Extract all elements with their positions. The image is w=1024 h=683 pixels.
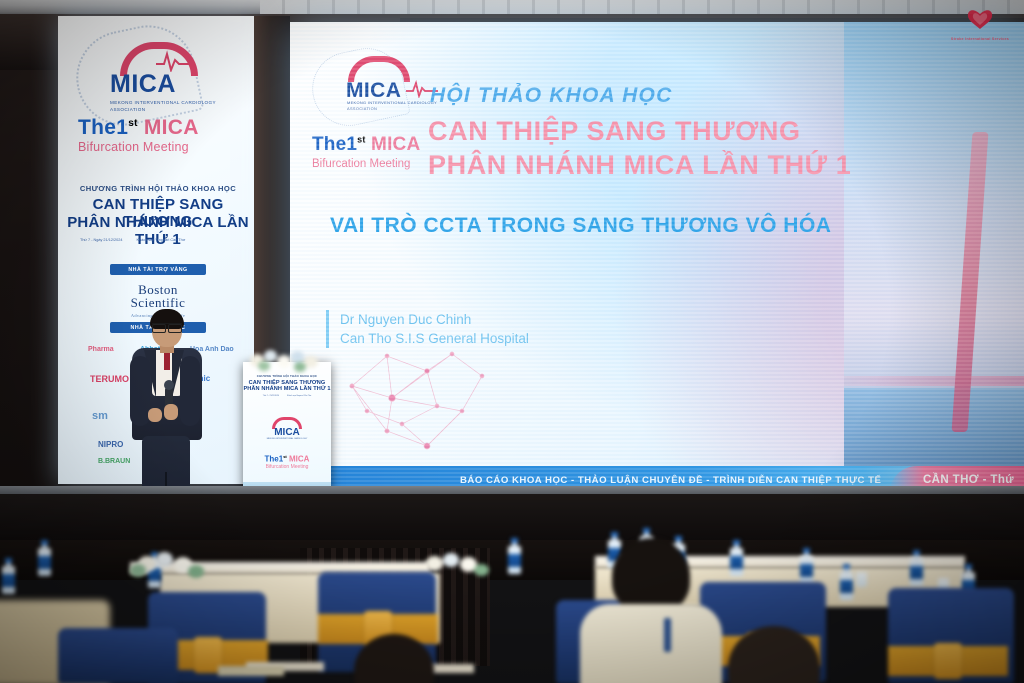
left-panel-bifurcation: Bifurcation Meeting (78, 140, 253, 154)
rollup-bifurcation: Bifurcation Meeting (243, 464, 331, 470)
water-bottle (800, 548, 813, 584)
mica-subtitle: MEKONG INTERVENTIONAL CARDIOLOGY ASSOCIA… (110, 100, 240, 113)
audience-person (336, 634, 452, 683)
rollup-meta-date: Thứ 7 - 21/12/2024 (263, 395, 279, 397)
slide-the-1st: The1st MICA (312, 134, 420, 156)
the1-sup: st (357, 135, 365, 145)
audience-foreground (0, 540, 1024, 683)
sis-hands-heart-icon (965, 8, 995, 30)
presenter-arm-right (180, 356, 200, 426)
speaker-name: Dr Nguyen Duc Chinh (340, 310, 529, 329)
slide-heading-line1: CAN THIỆP SANG THƯƠNG (428, 116, 801, 147)
left-panel-kicker: CHƯƠNG TRÌNH HỘI THẢO KHOA HỌC (58, 184, 258, 193)
the1-text: The1 (312, 134, 357, 155)
table-flower-arrangement (128, 552, 218, 580)
mica-wordmark: MICA (346, 80, 401, 101)
the1-brand: MICA (144, 116, 199, 139)
low-poly-heart-network-graphic (332, 336, 522, 486)
drinking-glass (856, 572, 867, 587)
rollup-title-line2: PHÂN NHÁNH MICA LẦN THỨ 1 (243, 386, 331, 392)
mica-subtitle: MEKONG INTERVENTIONAL CARDIOLOGY (243, 438, 331, 440)
rollup-meta: Thứ 7 - 21/12/2024 Khách sạn Vinpearl Cầ… (243, 395, 331, 397)
notepad-on-desk (218, 666, 284, 676)
water-bottle (910, 550, 923, 586)
bridge-photo-backdrop (844, 22, 1024, 494)
left-panel-meta-place: Khách sạn Vinpearl Cần Thơ (136, 238, 185, 244)
the1-sup: st (283, 454, 287, 459)
the1-brand: MICA (289, 455, 309, 464)
presenter-tie (164, 350, 170, 370)
rollup-kicker: CHƯƠNG TRÌNH HỘI THẢO KHOA HỌC (243, 374, 331, 378)
audience-person (700, 626, 850, 683)
slide-kicker: HỘI THẢO KHOA HỌC (430, 84, 672, 108)
conference-photo-scene: MICA MEKONG INTERVENTIONAL CARDIOLOGY AS… (0, 0, 1024, 683)
slide-topic-title: VAI TRÒ CCTA TRONG SANG THƯƠNG VÔ HÓA (330, 214, 831, 238)
gold-sponsor-label: NHÀ TÀI TRỢ VÀNG (110, 264, 206, 275)
speaker-affiliation: Can Tho S.I.S General Hospital (340, 329, 529, 348)
slide-heading-line2: PHÂN NHÁNH MICA LẦN THỨ 1 (428, 150, 851, 181)
eyeglasses-icon (152, 323, 182, 330)
ecg-pulse-icon (156, 50, 192, 72)
water-bottle (840, 564, 853, 600)
the1-text: The1 (78, 116, 128, 139)
stage-floor-edge (0, 486, 1024, 494)
bridge-deck (844, 376, 1024, 386)
sponsor-logo-pharma: Pharma (88, 346, 114, 353)
presenter-hand-right (164, 404, 178, 420)
the1-brand: MICA (371, 134, 420, 155)
slide-footer-left-text: BÁO CÁO KHOA HỌC - THẢO LUẬN CHUYÊN ĐỀ -… (290, 475, 881, 486)
left-panel-meta: Thứ 7 - Ngày 21/12/2024 Khách sạn Vinpea… (80, 238, 240, 244)
sponsor-logo-sm: sm (92, 410, 108, 422)
mica-wordmark: MICA (110, 72, 240, 97)
left-panel-meta-date: Thứ 7 - Ngày 21/12/2024 (80, 238, 122, 244)
lanyard (664, 618, 671, 652)
mica-subtitle: MEKONG INTERVENTIONAL CARDIOLOGY ASSOCIA… (347, 100, 438, 112)
banquet-chair (58, 628, 178, 683)
rollup-meta-place: Khách sạn Vinpearl Cần Thơ (287, 395, 311, 397)
stage-front-face (0, 494, 1024, 540)
the1-sup: st (128, 118, 138, 129)
presenter-arm-left (130, 356, 150, 426)
audience-person (586, 538, 716, 683)
water-bottle (730, 540, 743, 576)
left-panel-the-1st: The1st MICA (78, 116, 253, 140)
sis-watermark: Stroke International Services Cấp cứu độ… (948, 8, 1012, 44)
water-bottle (2, 558, 15, 594)
slide-bifurcation: Bifurcation Meeting (312, 158, 410, 170)
bridge-tower (952, 132, 989, 432)
water-bottle (38, 540, 51, 576)
presenter-hand-left (148, 408, 162, 422)
main-presentation-screen: MICA MEKONG INTERVENTIONAL CARDIOLOGY AS… (290, 22, 1024, 494)
mica-wordmark: MICA (243, 428, 331, 438)
the1-text: The1 (265, 455, 284, 464)
water-bottle (508, 538, 521, 574)
banquet-chair (888, 588, 1014, 683)
rollup-the-1st: The1st MICA (243, 454, 331, 464)
slide-speaker-block: Dr Nguyen Duc Chinh Can Tho S.I.S Genera… (326, 310, 529, 348)
stage-flower-arrangement (246, 348, 330, 370)
sis-watermark-tagline: Cấp cứu đột quỵ toàn diện 24/7 (948, 41, 1012, 44)
boston-line2: Scientific (58, 295, 258, 311)
rollup-mica-logo: MICA MEKONG INTERVENTIONAL CARDIOLOGY (243, 417, 331, 440)
